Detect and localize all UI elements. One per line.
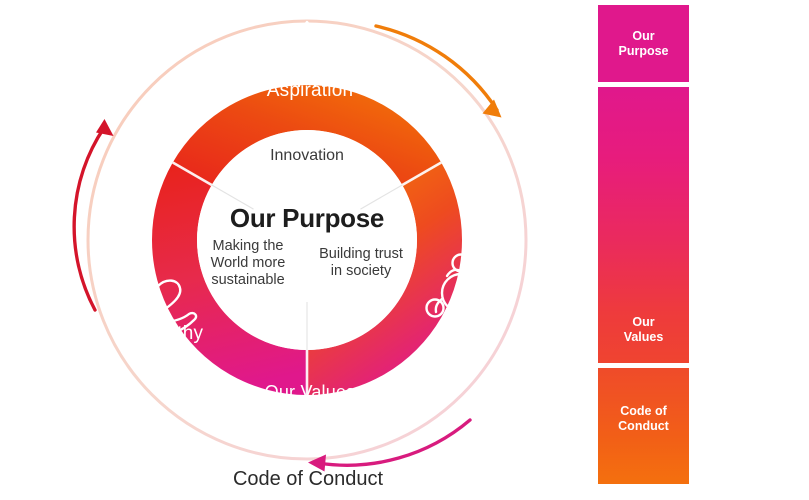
legend-block-code-of-conduct[interactable]: Code of Conduct xyxy=(598,368,689,484)
segment-label-empathy: Empathy xyxy=(105,323,225,345)
legend-label-our-values: Our Values xyxy=(624,315,664,345)
legend-column: Our Purpose Our Values Code of Conduct xyxy=(598,5,689,484)
outer-label-code-of-conduct: Code of Conduct xyxy=(208,468,408,491)
ring-label-our-values: Our Values xyxy=(240,382,380,403)
legend-label-code-of-conduct: Code of Conduct xyxy=(618,404,669,434)
hub-label-innovation: Innovation xyxy=(227,147,387,165)
segment-label-aspiration: Aspiration xyxy=(245,80,375,102)
legend-block-our-values[interactable]: Our Values xyxy=(598,87,689,363)
page-title: Our Purpose xyxy=(197,203,417,234)
segment-label-trust: Trust xyxy=(400,323,520,345)
hub-text-sustainability: Making the World more sustainable xyxy=(194,238,302,289)
legend-block-our-purpose[interactable]: Our Purpose xyxy=(598,5,689,82)
arrow-bottom-leftward xyxy=(308,420,470,472)
rocket-icon xyxy=(285,22,329,86)
legend-label-our-purpose: Our Purpose xyxy=(618,29,668,59)
hub-text-trust: Building trust in society xyxy=(306,246,416,280)
purpose-wheel-diagram: Aspiration Empathy Trust Our Values Inno… xyxy=(0,0,580,500)
